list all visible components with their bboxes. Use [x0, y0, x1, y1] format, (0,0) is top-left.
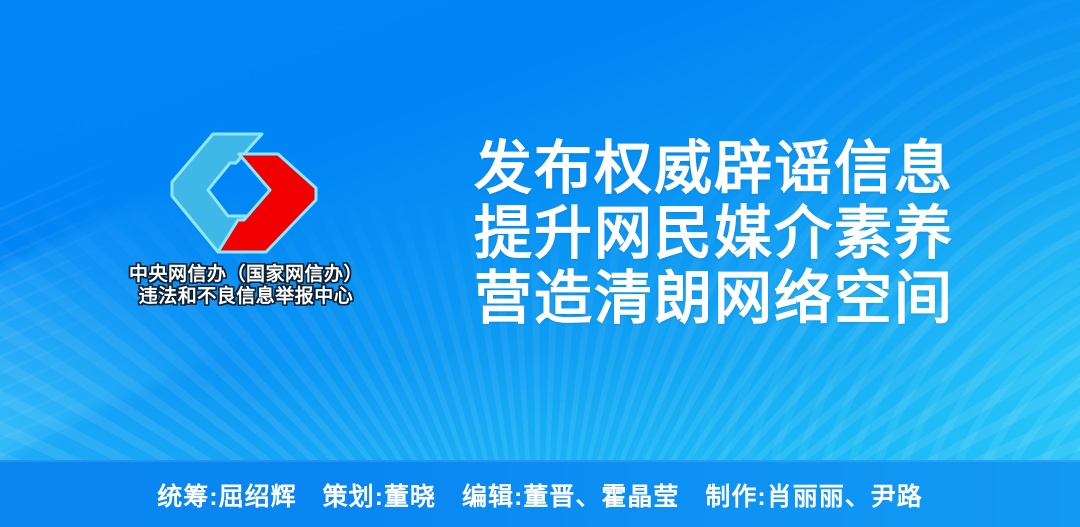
slogan-line-3: 营造清朗网络空间	[474, 266, 974, 331]
logo-caption-line-1: 中央网信办（国家网信办）	[129, 264, 363, 286]
logo-caption: 中央网信办（国家网信办） 违法和不良信息举报中心	[129, 264, 363, 309]
credit-item-2-names: 董晋、霍晶莹	[523, 483, 679, 511]
cac-report-center-chevron-logo-icon	[166, 130, 326, 258]
credit-item-1-sep: :	[375, 483, 384, 511]
slogan-block: 发布权威辟谣信息 提升网民媒介素养 营造清朗网络空间	[474, 136, 974, 331]
credit-item-0-role: 统筹	[157, 483, 209, 511]
logo-caption-line-2: 违法和不良信息举报中心	[129, 286, 363, 308]
credit-item-1-role: 策划	[323, 483, 375, 511]
credits-text: 统筹:屈绍辉策划:董晓编辑:董晋、霍晶莹制作:肖丽丽、尹路	[157, 477, 922, 513]
slogan-line-1: 发布权威辟谣信息	[474, 136, 974, 201]
logo-block: 中央网信办（国家网信办） 违法和不良信息举报中心	[96, 130, 396, 309]
credits-bar: 统筹:屈绍辉策划:董晓编辑:董晋、霍晶莹制作:肖丽丽、尹路	[0, 460, 1080, 527]
slogan-line-2: 提升网民媒介素养	[474, 201, 974, 266]
credit-item-2-role: 编辑	[462, 483, 514, 511]
credit-item-3-sep: :	[757, 483, 766, 511]
credit-item-3-names: 肖丽丽、尹路	[767, 483, 923, 511]
credit-item-0-sep: :	[209, 483, 218, 511]
credit-item-0-names: 屈绍辉	[219, 483, 297, 511]
credit-item-2-sep: :	[514, 483, 523, 511]
promo-banner: 中央网信办（国家网信办） 违法和不良信息举报中心 发布权威辟谣信息 提升网民媒介…	[0, 0, 1080, 527]
credit-item-3-role: 制作	[705, 483, 757, 511]
credit-item-1-names: 董晓	[384, 483, 436, 511]
